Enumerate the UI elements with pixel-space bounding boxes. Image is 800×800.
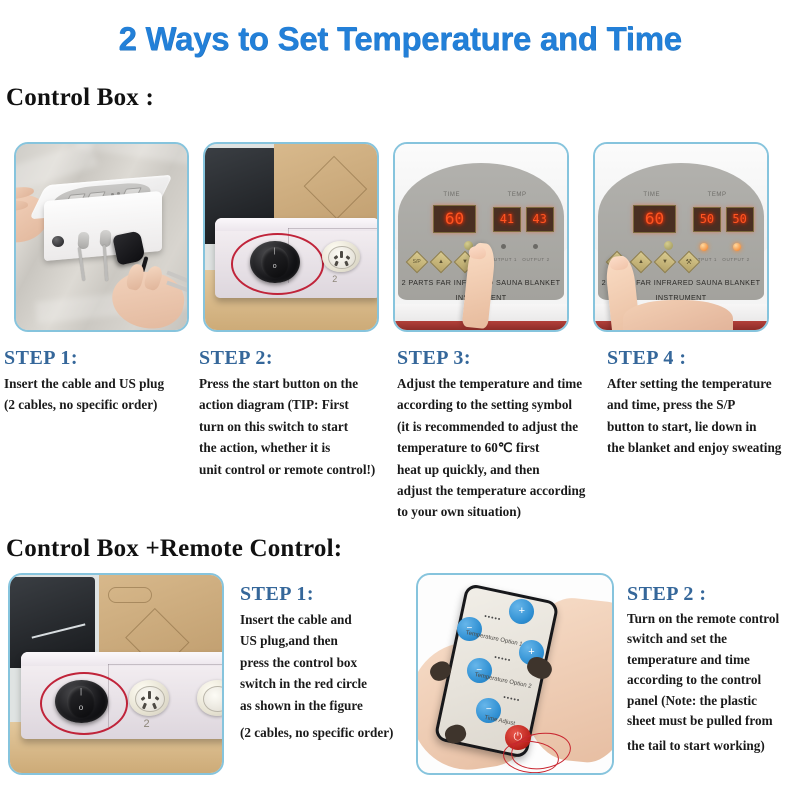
step-4-line: After setting the temperature [607, 373, 800, 394]
din-pin [148, 691, 151, 698]
remote-step-1-line: US plug,and then [240, 630, 415, 651]
page-title: 2 Ways to Set Temperature and Time [0, 20, 800, 58]
remote-step-2-line: switch and set the [627, 629, 800, 649]
step-2-body: Press the start button on the action dia… [199, 373, 399, 480]
hand [623, 300, 733, 330]
din-socket[interactable] [129, 680, 169, 716]
step-1-line: Insert the cable and US plug [4, 373, 199, 394]
step-3-line: heat up quickly, and then [397, 459, 602, 480]
temp-label: TEMP [698, 192, 736, 198]
remote-step-2-heading: STEP 2 : [627, 583, 800, 606]
step-1-body: Insert the cable and US plug (2 cables, … [4, 373, 199, 416]
din-pin [340, 251, 343, 257]
temp2-digits: 43 [532, 213, 546, 225]
step-4-block: STEP 4 : After setting the temperature a… [607, 347, 800, 459]
section-heading-control-box-remote: Control Box +Remote Control: [6, 535, 342, 563]
remote-step-2-line: according to the control [627, 670, 800, 690]
up-button-label: ▲ [638, 259, 644, 265]
down-button-label: ▼ [662, 259, 668, 265]
din-pin [333, 255, 338, 260]
din-pin [334, 261, 339, 266]
step-3-line: according to the setting symbol [397, 394, 602, 415]
output2-label: OUTPUT 2 [719, 257, 753, 262]
switch-off-mark: o [55, 703, 108, 712]
time-label: TIME [633, 192, 671, 198]
step-2-block: STEP 2: Press the start button on the ac… [199, 347, 399, 480]
step-4-line: and time, press the S/P [607, 394, 800, 415]
section-heading-control-box: Control Box : [6, 84, 154, 112]
din-socket-inner [135, 686, 164, 712]
power-switch[interactable]: | o [250, 241, 300, 284]
remote-step-2-body: Turn on the remote control switch and se… [627, 609, 800, 756]
din-socket[interactable] [322, 241, 360, 273]
step-2-line: unit control or remote control!) [199, 459, 399, 480]
infographic-page: 2 Ways to Set Temperature and Time Contr… [0, 0, 800, 800]
step-4-heading: STEP 4 : [607, 347, 800, 370]
output2-label: OUTPUT 2 [519, 257, 553, 262]
remote-step-1-line: (2 cables, no specific order) [240, 722, 415, 743]
remote-step-1-heading: STEP 1: [240, 583, 415, 606]
photo-power-switch-circled: | o 2 [203, 142, 379, 332]
step-3-line: to your own situation) [397, 501, 602, 522]
sp-button-label: S/P [413, 259, 421, 264]
step-2-heading: STEP 2: [199, 347, 399, 370]
din-pin [154, 696, 159, 701]
step-4-body: After setting the temperature and time, … [607, 373, 800, 459]
panel-seam [108, 664, 222, 665]
remote-step-2-line: the tail to start working) [627, 736, 800, 756]
step-1-heading: STEP 1: [4, 347, 199, 370]
step-2-line: turn on this switch to start [199, 416, 399, 437]
step-3-line: adjust the temperature according [397, 480, 602, 501]
set-button-label: ⚒ [686, 258, 692, 265]
time-label: TIME [433, 192, 471, 198]
time-display: 60 [433, 205, 476, 233]
step-3-body: Adjust the temperature and time accordin… [397, 373, 602, 523]
remote-step-1-line: Insert the cable and [240, 609, 415, 630]
down-button-label: ▼ [462, 259, 468, 265]
step-3-block: STEP 3: Adjust the temperature and time … [397, 347, 602, 523]
photo-control-panel-press-sp: TIME TEMP 60 50 50 OUTPUT 1 OUTPUT 2 S/P… [593, 142, 769, 332]
switch-on-mark: | [250, 248, 300, 255]
output2-led [733, 243, 741, 251]
up-button-label: ▲ [438, 259, 444, 265]
step-1-block: STEP 1: Insert the cable and US plug (2 … [4, 347, 199, 416]
switch-on-mark: | [55, 687, 108, 696]
time-digits: 60 [645, 211, 664, 227]
din-pin [142, 702, 147, 709]
step-4-line: the blanket and enjoy sweating [607, 437, 800, 458]
panel-seam [288, 228, 377, 229]
remote-step-2-block: STEP 2 : Turn on the remote control swit… [627, 583, 800, 756]
step-3-heading: STEP 3: [397, 347, 602, 370]
photo-control-box-with-cables [14, 142, 189, 332]
remote-step-1-block: STEP 1: Insert the cable and US plug,and… [240, 583, 415, 743]
din-pin [345, 255, 350, 260]
step-2-line: the action, whether it is [199, 437, 399, 458]
photo-control-panel-settings: TIME TEMP 60 41 43 OUTPUT 1 OUTPUT 2 S/P… [393, 142, 569, 332]
temp2-digits: 50 [732, 213, 746, 225]
power-switch[interactable]: | o [55, 680, 108, 724]
socket-number-label: 2 [332, 274, 337, 284]
remote-step-2-line: sheet must be pulled from [627, 711, 800, 731]
din-socket-inner [203, 686, 222, 712]
remote-step-2-line: Turn on the remote control [627, 609, 800, 629]
temp1-digits: 50 [700, 213, 714, 225]
temp-display-2: 50 [726, 207, 754, 231]
temp-display-2: 43 [526, 207, 554, 231]
time-display: 60 [633, 205, 676, 233]
switch-off-mark: o [250, 263, 300, 270]
step-2-line: action diagram (TIP: First [199, 394, 399, 415]
step-3-line: (it is recommended to adjust the [397, 416, 602, 437]
step-3-line: temperature to 60℃ first [397, 437, 602, 458]
step-2-line: Press the start button on the [199, 373, 399, 394]
din-socket-inner [328, 246, 356, 269]
temp-display-1: 50 [693, 207, 721, 231]
output1-led [700, 243, 708, 251]
temp-label: TEMP [498, 192, 536, 198]
temp-display-1: 41 [493, 207, 521, 231]
step-1-line: (2 cables, no specific order) [4, 394, 199, 415]
remote-step-1-line: as shown in the figure [240, 695, 415, 716]
remote-step-1-line: press the control box [240, 652, 415, 673]
step-4-line: button to start, lie down in [607, 416, 800, 437]
remote-step-1-body: Insert the cable and US plug,and then pr… [240, 609, 415, 743]
remote-step-2-line: panel (Note: the plastic [627, 691, 800, 711]
remote-step-1-line: switch in the red circle [240, 673, 415, 694]
time-digits: 60 [445, 211, 464, 227]
din-pin [152, 702, 157, 709]
control-box-top-edge [215, 218, 377, 231]
temp1-digits: 41 [500, 213, 514, 225]
carton-marking [108, 587, 152, 603]
status-led [664, 241, 673, 250]
temp1-plus-button[interactable]: + [509, 599, 534, 624]
din-pin [140, 696, 145, 701]
photo-remote-control-in-hand: − ••••• + Temperature Option 1 − ••••• +… [416, 573, 614, 775]
socket-number-label: 2 [144, 718, 150, 730]
remote-step-2-line: temperature and time [627, 650, 800, 670]
device-side-socket [52, 236, 64, 247]
step-3-line: Adjust the temperature and time [397, 373, 602, 394]
photo-control-box-switch-large: | o 2 [8, 573, 224, 775]
din-pin [344, 261, 349, 266]
